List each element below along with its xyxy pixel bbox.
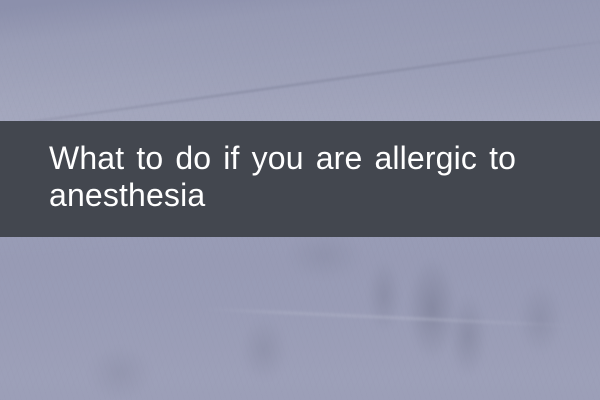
article-header-card: What to do if you are allergic to anesth… — [0, 0, 600, 400]
title-banner: What to do if you are allergic to anesth… — [0, 121, 600, 237]
page-title: What to do if you are allergic to anesth… — [49, 140, 559, 214]
